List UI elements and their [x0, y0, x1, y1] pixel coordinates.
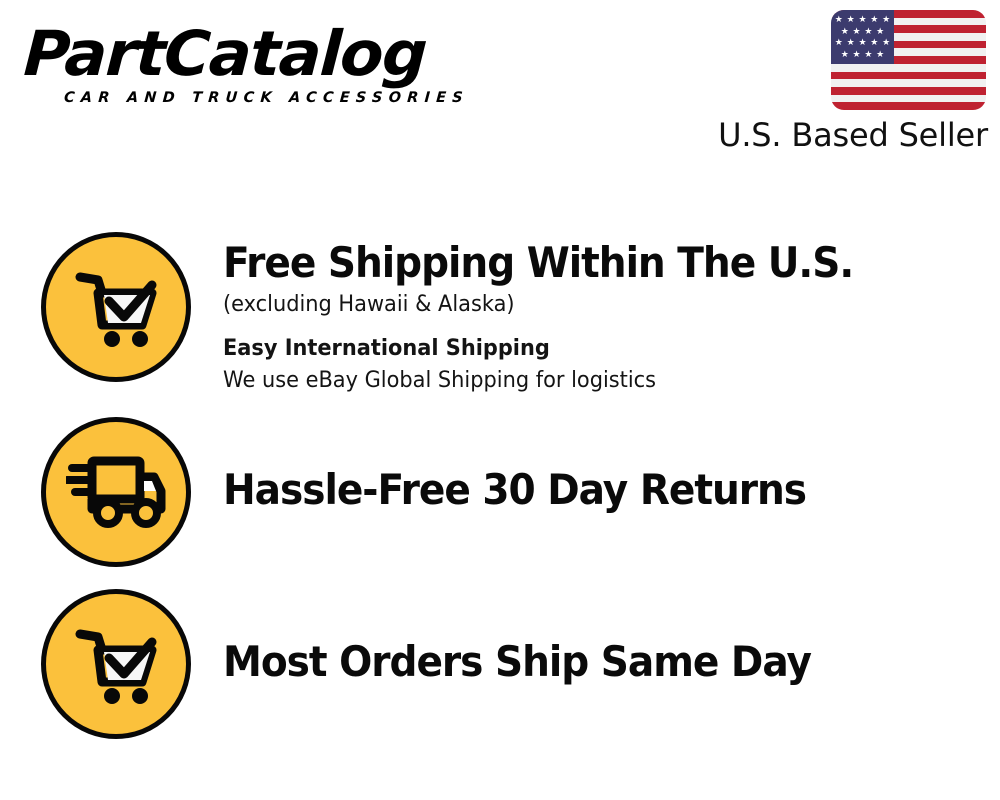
- flag-star: ★: [882, 15, 890, 24]
- feature-title: Hassle-Free 30 Day Returns: [223, 465, 946, 515]
- flag-star: ★: [882, 38, 890, 47]
- flag-star: ★: [864, 27, 872, 36]
- shopping-cart-check-icon: [41, 232, 191, 382]
- shopping-cart-check-icon: [41, 589, 191, 739]
- feature-row-returns: Hassle-Free 30 Day Returns: [0, 417, 1000, 567]
- flag-star: ★: [853, 50, 861, 59]
- flag-star: ★: [841, 27, 849, 36]
- feature-subheading: Easy International Shipping: [223, 334, 961, 364]
- brand-tagline: CAR AND TRUCK ACCESSORIES: [63, 90, 494, 106]
- flag-star: ★: [858, 38, 866, 47]
- feature-title: Free Shipping Within The U.S.: [223, 238, 946, 288]
- flag-star: ★: [841, 50, 849, 59]
- feature-text-block: Hassle-Free 30 Day Returns: [223, 417, 1000, 515]
- flag-stripe: [831, 87, 986, 95]
- banner-header: PartCatalog CAR AND TRUCK ACCESSORIES: [0, 0, 1000, 175]
- brand-wordmark: PartCatalog: [22, 20, 505, 88]
- flag-star: ★: [835, 15, 843, 24]
- us-based-seller-label: U.S. Based Seller: [718, 116, 988, 154]
- flag-canton: ★ ★ ★ ★ ★ ★ ★ ★ ★ ★ ★ ★: [831, 10, 894, 64]
- seller-info-banner: PartCatalog CAR AND TRUCK ACCESSORIES: [0, 0, 1000, 800]
- feature-title: Most Orders Ship Same Day: [223, 637, 946, 687]
- feature-row-same-day-ship: Most Orders Ship Same Day: [0, 589, 1000, 739]
- flag-stripe: [831, 102, 986, 110]
- feature-subnote: (excluding Hawaii & Alaska): [223, 290, 961, 320]
- flag-star: ★: [835, 38, 843, 47]
- flag-star: ★: [853, 27, 861, 36]
- flag-star-row: ★ ★ ★ ★ ★: [831, 14, 894, 25]
- brand-logo: PartCatalog CAR AND TRUCK ACCESSORIES: [24, 20, 494, 115]
- flag-star: ★: [847, 38, 855, 47]
- flag-star-row: ★ ★ ★ ★: [831, 26, 894, 37]
- flag-star: ★: [876, 50, 884, 59]
- flag-star-row: ★ ★ ★ ★ ★: [831, 37, 894, 48]
- flag-star: ★: [864, 50, 872, 59]
- flag-stripe: [831, 79, 986, 87]
- flag-star: ★: [870, 38, 878, 47]
- flag-stripe: [831, 72, 986, 80]
- flag-star: ★: [870, 15, 878, 24]
- feature-text-block: Free Shipping Within The U.S. (excluding…: [223, 232, 1000, 396]
- flag-star-row: ★ ★ ★ ★: [831, 49, 894, 60]
- us-flag-icon: ★ ★ ★ ★ ★ ★ ★ ★ ★ ★ ★ ★: [831, 10, 986, 110]
- flag-stripe: [831, 95, 986, 103]
- flag-stripe: [831, 64, 986, 72]
- delivery-truck-icon: [41, 417, 191, 567]
- us-based-seller-badge: ★ ★ ★ ★ ★ ★ ★ ★ ★ ★ ★ ★: [718, 10, 988, 154]
- feature-text-block: Most Orders Ship Same Day: [223, 589, 1000, 687]
- flag-star: ★: [876, 27, 884, 36]
- feature-subdetail: We use eBay Global Shipping for logistic…: [223, 366, 961, 396]
- flag-star: ★: [858, 15, 866, 24]
- feature-row-free-shipping: Free Shipping Within The U.S. (excluding…: [0, 232, 1000, 396]
- flag-star: ★: [847, 15, 855, 24]
